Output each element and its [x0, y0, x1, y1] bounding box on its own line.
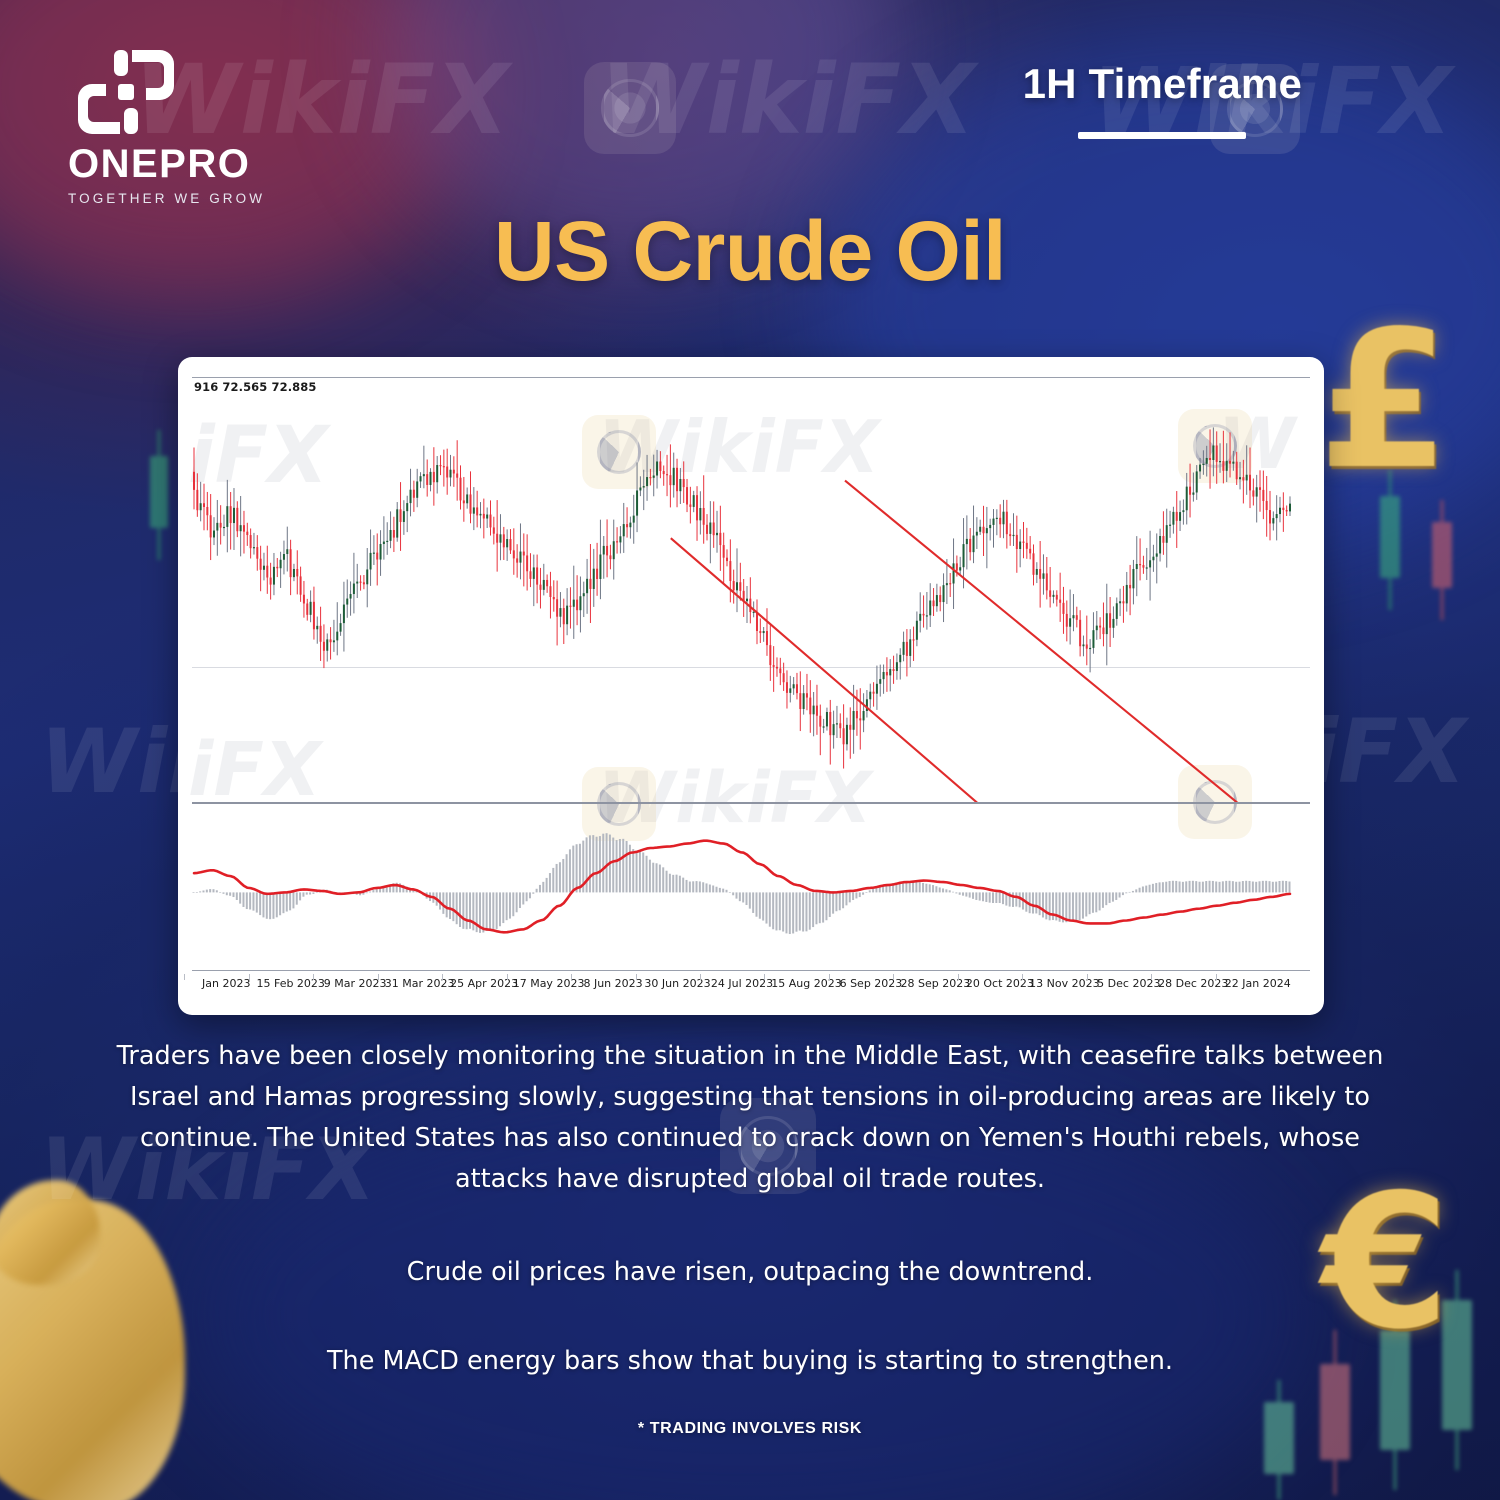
background-candle	[150, 430, 168, 560]
pound-symbol-icon: £	[1318, 290, 1450, 511]
x-axis-tick	[764, 974, 765, 980]
ohlc-readout: 916 72.565 72.885	[194, 380, 316, 394]
x-axis-label: 20 Oct 2023	[966, 977, 1034, 990]
x-axis-tick	[893, 974, 894, 980]
x-axis-label: 15 Aug 2023	[771, 977, 841, 990]
x-axis-label: Jan 2023	[202, 977, 250, 990]
candlestick-plot	[178, 397, 1324, 803]
x-axis-label: 28 Sep 2023	[901, 977, 971, 990]
page-title: US Crude Oil	[0, 203, 1500, 300]
x-axis-tick	[571, 974, 572, 980]
x-axis-label: 17 May 2023	[513, 977, 585, 990]
x-axis-tick	[700, 974, 701, 980]
x-axis-tick	[829, 974, 830, 980]
x-axis-tick	[636, 974, 637, 980]
timeframe-label: 1H Timeframe	[1023, 62, 1302, 106]
x-axis-tick	[1216, 974, 1217, 980]
chart-top-divider	[192, 377, 1310, 378]
x-axis-label: 25 Apr 2023	[450, 977, 518, 990]
timeframe-underline	[1078, 132, 1246, 139]
x-axis-tick	[249, 974, 250, 980]
x-axis-tick	[507, 974, 508, 980]
paragraph-3: The MACD energy bars show that buying is…	[90, 1341, 1410, 1382]
x-axis-label: 28 Dec 2023	[1158, 977, 1228, 990]
chart-card[interactable]: 916 72.565 72.885 iFX WikiFX iFX WikiFX …	[178, 357, 1324, 1015]
x-axis-tick	[378, 974, 379, 980]
article-body: Traders have been closely monitoring the…	[90, 1036, 1410, 1382]
x-axis-tick	[313, 974, 314, 980]
x-axis-label: 31 Mar 2023	[385, 977, 455, 990]
background-candle	[1432, 500, 1452, 620]
x-axis-labels: Jan 202315 Feb 20239 Mar 202331 Mar 2023…	[178, 974, 1324, 998]
x-axis-label: 22 Jan 2024	[1225, 977, 1291, 990]
paragraph-2: Crude oil prices have risen, outpacing t…	[90, 1252, 1410, 1293]
price-pane	[178, 397, 1324, 803]
background-candle	[1264, 1380, 1294, 1500]
x-axis-label: 13 Nov 2023	[1029, 977, 1099, 990]
timeframe-block: 1H Timeframe	[1023, 62, 1302, 139]
wikifx-badge-icon	[584, 62, 676, 154]
brand-name: ONEPRO	[68, 144, 328, 184]
macd-plot	[178, 803, 1324, 969]
x-axis-line	[192, 970, 1310, 971]
risk-disclaimer: * TRADING INVOLVES RISK	[0, 1420, 1500, 1438]
x-axis-tick	[442, 974, 443, 980]
macd-pane	[178, 803, 1324, 969]
x-axis-tick	[1022, 974, 1023, 980]
x-axis-label: 15 Feb 2023	[256, 977, 324, 990]
x-axis-tick	[958, 974, 959, 980]
x-axis-tick	[184, 974, 185, 980]
x-axis-label: 8 Jun 2023	[583, 977, 642, 990]
brand-logo: ONEPRO TOGETHER WE GROW	[68, 46, 328, 206]
paragraph-1: Traders have been closely monitoring the…	[98, 1036, 1403, 1200]
x-axis-tick	[1151, 974, 1152, 980]
interlocking-squares-icon	[74, 46, 178, 138]
x-axis-tick	[1087, 974, 1088, 980]
